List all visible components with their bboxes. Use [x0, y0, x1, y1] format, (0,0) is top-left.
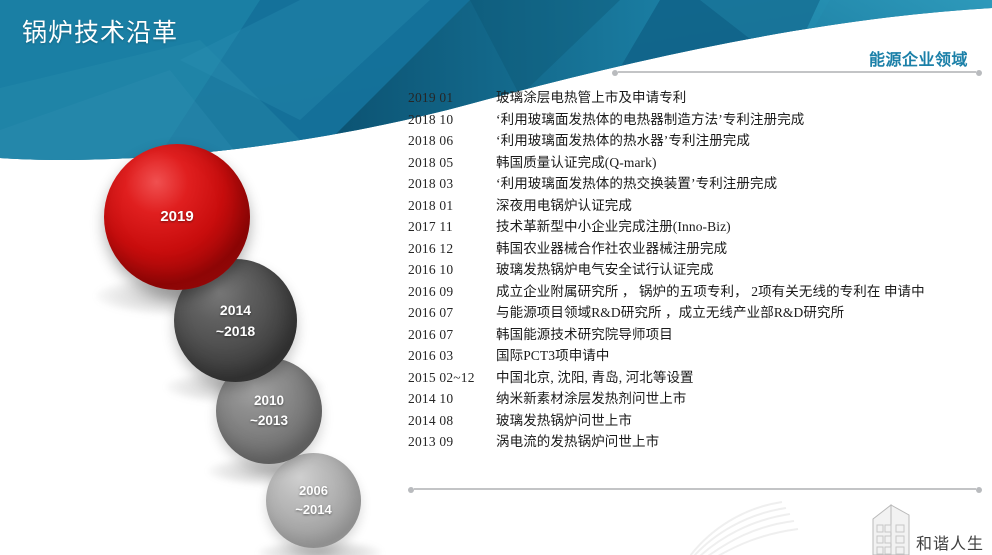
- sphere-label-line2: ~2018: [216, 321, 255, 341]
- sphere-label-line1: 2014: [220, 300, 251, 320]
- timeline-row-date: 2014 08: [408, 413, 496, 429]
- timeline-row-date: 2016 10: [408, 262, 496, 278]
- timeline-row: 2016 07与能源项目领域R&D研究所 ，成立无线产业部R&D研究所: [408, 301, 992, 323]
- divider-bottom-cap-right: [976, 487, 982, 493]
- timeline-row: 2013 09涡电流的发热锅炉问世上市: [408, 430, 992, 452]
- timeline-row-date: 2018 03: [408, 176, 496, 192]
- timeline-row-description: ‘利用玻璃面发热体的热水器’专利注册完成: [496, 129, 750, 149]
- footer-brand: 和谐人生: [869, 499, 984, 555]
- sphere-label-line1: 2019: [160, 206, 193, 228]
- timeline-row-description: 成立企业附属研究所 ， 锅炉的五项专利， 2项有关无线的专利在 申请中: [496, 280, 925, 300]
- timeline-row-date: 2014 10: [408, 391, 496, 407]
- divider-top-cap-right: [976, 70, 982, 76]
- timeline-row-description: 与能源项目领域R&D研究所 ，成立无线产业部R&D研究所: [496, 301, 844, 321]
- divider-bottom-cap-left: [408, 487, 414, 493]
- sphere-label-line1: 2006: [299, 482, 328, 501]
- timeline-row-date: 2019 01: [408, 90, 496, 106]
- timeline-row-date: 2015 02~12: [408, 370, 496, 386]
- sphere-label-line2: ~2014: [295, 501, 332, 520]
- page-title: 锅炉技术沿革: [22, 13, 178, 49]
- timeline-sphere-diagram: 2006 ~2014 2010 ~2013 2014 ~2018 2019: [0, 0, 420, 555]
- timeline-row: 2018 10‘利用玻璃面发热体的电热器制造方法’专利注册完成: [408, 108, 992, 130]
- divider-bottom-rule: [414, 488, 976, 490]
- timeline-row-description: ‘利用玻璃面发热体的热交换装置’专利注册完成: [496, 172, 777, 192]
- timeline-row: 2014 08玻璃发热锅炉问世上市: [408, 409, 992, 431]
- timeline-row-date: 2018 06: [408, 133, 496, 149]
- timeline-row-date: 2018 10: [408, 112, 496, 128]
- timeline-row: 2018 03‘利用玻璃面发热体的热交换装置’专利注册完成: [408, 172, 992, 194]
- timeline-row-date: 2013 09: [408, 434, 496, 450]
- timeline-row-description: 国际PCT3项申请中: [496, 344, 610, 364]
- timeline-row-description: 纳米新素材涂层发热剂问世上市: [496, 387, 686, 407]
- divider-top-rule: [618, 71, 976, 73]
- timeline-row: 2016 12韩国农业器械合作社农业器械注册完成: [408, 237, 992, 259]
- sphere-label-line1: 2010: [254, 391, 284, 411]
- timeline-row: 2018 01深夜用电锅炉认证完成: [408, 194, 992, 216]
- timeline-row: 2018 06‘利用玻璃面发热体的热水器’专利注册完成: [408, 129, 992, 151]
- divider-top: [612, 70, 982, 73]
- timeline-row-description: 韩国质量认证完成(Q-mark): [496, 151, 657, 171]
- timeline-row-date: 2018 05: [408, 155, 496, 171]
- swirl-watermark-icon: [690, 496, 820, 555]
- footer-brand-text: 和谐人生: [916, 537, 984, 555]
- sphere-2006[interactable]: 2006 ~2014: [266, 453, 361, 548]
- timeline-row-date: 2016 03: [408, 348, 496, 364]
- sphere-label-line2: ~2013: [250, 411, 288, 431]
- timeline-row-description: 涡电流的发热锅炉问世上市: [496, 430, 659, 450]
- sphere-current[interactable]: 2019: [104, 144, 250, 290]
- timeline-row-date: 2017 11: [408, 219, 496, 235]
- timeline-row: 2016 03国际PCT3项申请中: [408, 344, 992, 366]
- timeline-row: 2016 10玻璃发热锅炉电气安全试行认证完成: [408, 258, 992, 280]
- timeline-row-date: 2016 12: [408, 241, 496, 257]
- timeline-row: 2016 07韩国能源技术研究院导师项目: [408, 323, 992, 345]
- timeline-row-description: 深夜用电锅炉认证完成: [496, 194, 632, 214]
- timeline-row-description: 玻璃发热锅炉问世上市: [496, 409, 632, 429]
- divider-top-cap-left: [612, 70, 618, 76]
- timeline-row-description: 玻璃涂层电热管上市及申请专利: [496, 86, 686, 106]
- timeline-row: 2019 01玻璃涂层电热管上市及申请专利: [408, 86, 992, 108]
- timeline-row: 2017 11技术革新型中小企业完成注册(Inno-Biz): [408, 215, 992, 237]
- timeline-row-description: ‘利用玻璃面发热体的电热器制造方法’专利注册完成: [496, 108, 804, 128]
- building-icon: [869, 503, 915, 555]
- timeline-row-description: 韩国能源技术研究院导师项目: [496, 323, 673, 343]
- timeline-row-description: 玻璃发热锅炉电气安全试行认证完成: [496, 258, 714, 278]
- timeline-row: 2014 10纳米新素材涂层发热剂问世上市: [408, 387, 992, 409]
- timeline-row-date: 2016 07: [408, 305, 496, 321]
- timeline-row-date: 2016 09: [408, 284, 496, 300]
- timeline-row: 2018 05韩国质量认证完成(Q-mark): [408, 151, 992, 173]
- divider-bottom: [408, 487, 982, 490]
- timeline-row-description: 韩国农业器械合作社农业器械注册完成: [496, 237, 727, 257]
- timeline-list: 2019 01玻璃涂层电热管上市及申请专利2018 10‘利用玻璃面发热体的电热…: [408, 86, 992, 452]
- section-label: 能源企业领域: [869, 46, 968, 70]
- timeline-row: 2015 02~12中国北京, 沈阳, 青岛, 河北等设置: [408, 366, 992, 388]
- timeline-row-description: 技术革新型中小企业完成注册(Inno-Biz): [496, 215, 731, 235]
- timeline-row-date: 2018 01: [408, 198, 496, 214]
- slide-canvas: 锅炉技术沿革 能源企业领域 2006 ~2014 2010 ~2013 2014…: [0, 0, 992, 555]
- timeline-row-description: 中国北京, 沈阳, 青岛, 河北等设置: [496, 366, 694, 386]
- timeline-row-date: 2016 07: [408, 327, 496, 343]
- timeline-row: 2016 09成立企业附属研究所 ， 锅炉的五项专利， 2项有关无线的专利在 申…: [408, 280, 992, 302]
